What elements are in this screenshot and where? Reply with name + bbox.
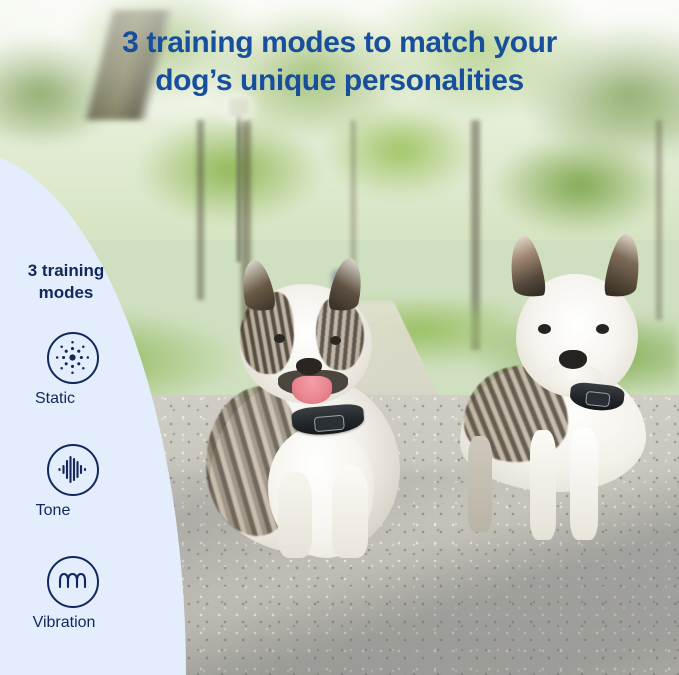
panel-title: 3 training modes (0, 260, 132, 304)
mode-item-static[interactable]: Static (0, 332, 146, 444)
dog-b-hind-leg (468, 436, 492, 532)
dog-b-nose (559, 350, 587, 369)
dog-b-ear-left (505, 234, 547, 301)
dog-a-front-leg-right (332, 466, 368, 558)
dog-a-ear-left (237, 257, 277, 314)
headline-line-2: dog’s unique personalities (0, 62, 679, 100)
headline: 3 training modes to match your dog’s uni… (0, 24, 679, 100)
dog-a-tongue (292, 376, 332, 404)
dog-a-eye-left (274, 334, 285, 343)
mode-label-static: Static (0, 390, 128, 408)
dog-b-eye-left (538, 324, 551, 334)
training-modes-panel-content: 3 training modes (0, 150, 150, 675)
dog-standing-white (452, 240, 672, 570)
park-lamp-post (236, 112, 242, 262)
mode-item-tone[interactable]: Tone (0, 444, 146, 556)
modes-list: Static (0, 332, 146, 668)
dog-sitting-brindle (196, 258, 426, 558)
dog-a-eye-right (330, 336, 341, 345)
panel-title-line-2: modes (39, 283, 94, 302)
mode-label-vibration: Vibration (0, 614, 137, 632)
dog-a-ear-right (327, 255, 368, 314)
dog-b-front-leg-left (530, 430, 556, 540)
tone-icon-circle (47, 444, 99, 496)
dog-a-front-leg-left (278, 472, 312, 558)
panel-title-line-1: 3 training (28, 261, 105, 280)
dog-b-front-leg-right (570, 428, 598, 540)
vibration-icon-circle (47, 556, 99, 608)
dog-b-eye-right (596, 324, 609, 334)
marketing-banner: 3 training modes to match your dog’s uni… (0, 0, 679, 675)
mode-label-tone: Tone (0, 502, 126, 520)
dog-a-nose (296, 358, 322, 375)
static-icon-circle (47, 332, 99, 384)
mode-item-vibration[interactable]: Vibration (0, 556, 146, 668)
headline-line-1: 3 training modes to match your (122, 26, 557, 59)
dog-b-ear-right (603, 232, 646, 301)
